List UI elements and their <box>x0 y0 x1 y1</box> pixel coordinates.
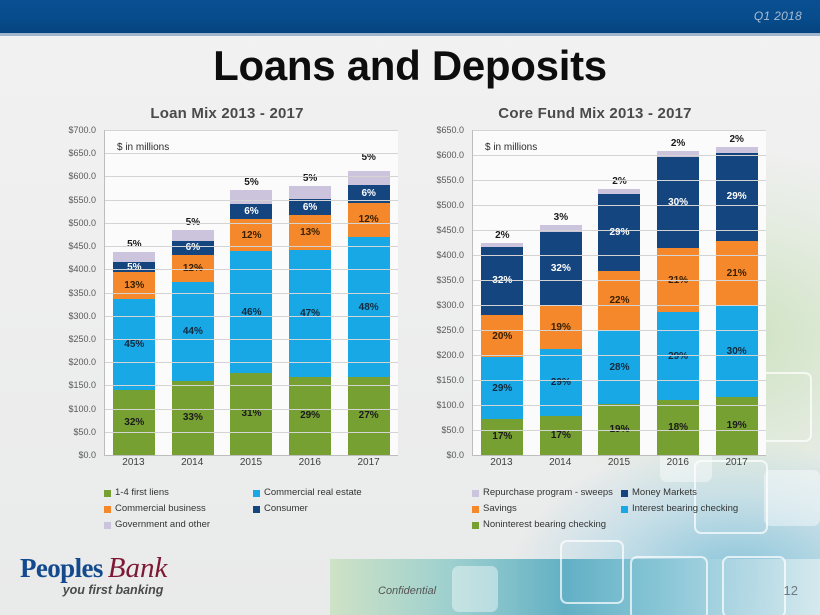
y-axis-tick-label: $150.0 <box>68 380 96 390</box>
y-axis-tick-label: $100.0 <box>68 404 96 414</box>
legend-swatch-icon <box>472 490 479 497</box>
bar-segment-label: 5% <box>127 262 141 272</box>
y-axis-tick-label: $450.0 <box>436 225 464 235</box>
legend-label: Interest bearing checking <box>632 503 738 515</box>
legend-item[interactable]: Noninterest bearing checking <box>472 519 770 531</box>
bar-segment-label: 44% <box>183 326 203 337</box>
bar-segment-label: 47% <box>300 308 320 319</box>
core-fund-mix-plot-wrap: $650.0$600.0$550.0$500.0$450.0$400.0$350… <box>420 130 770 475</box>
y-axis-tick-label: $650.0 <box>68 148 96 158</box>
bar-segment[interactable]: 28% <box>598 330 640 405</box>
bar-column[interactable]: 17%29%20%32%2% <box>473 130 532 455</box>
bar-segment[interactable]: 6% <box>172 241 214 255</box>
y-axis-tick-label: $550.0 <box>68 195 96 205</box>
page-number: 12 <box>784 583 798 598</box>
gridline <box>473 305 766 306</box>
legend-label: Consumer <box>264 503 308 515</box>
loan-mix-plot-area: $ in millions 32%45%13%5%5%33%44%12%6%5%… <box>104 130 398 456</box>
gridline <box>105 246 398 247</box>
decorative-square <box>722 556 786 615</box>
gridline <box>473 280 766 281</box>
bar-top-label: 2% <box>671 138 685 149</box>
gridline <box>473 230 766 231</box>
legend-swatch-icon <box>472 506 479 513</box>
bar-segment-label: 45% <box>124 339 144 350</box>
x-axis-tick-label: 2013 <box>472 457 531 473</box>
y-axis-tick-label: $600.0 <box>436 150 464 160</box>
legend-item[interactable]: 1-4 first liens <box>104 487 253 499</box>
stacked-bar[interactable]: 27%48%12%6%5% <box>348 165 390 455</box>
bar-column[interactable]: 19%30%21%29%2% <box>707 130 766 455</box>
loan-mix-x-axis: 20132014201520162017 <box>104 457 398 473</box>
y-axis-tick-label: $200.0 <box>68 357 96 367</box>
gridline <box>105 130 398 131</box>
legend-label: Repurchase program - sweeps <box>483 487 613 499</box>
x-axis-tick-label: 2015 <box>590 457 649 473</box>
stacked-bar[interactable]: 32%45%13%5%5% <box>113 252 155 455</box>
bar-column[interactable]: 18%29%21%30%2% <box>649 130 708 455</box>
bar-segment[interactable]: 21% <box>716 241 758 305</box>
bar-segment[interactable]: 6% <box>289 199 331 215</box>
bar-segment-label: 32% <box>551 263 571 274</box>
bar-top-label: 2% <box>729 134 743 145</box>
page-title: Loans and Deposits <box>0 42 820 90</box>
x-axis-tick-label: 2013 <box>104 457 163 473</box>
legend-item[interactable]: Repurchase program - sweeps <box>472 487 621 499</box>
legend-swatch-icon <box>621 490 628 497</box>
y-axis-tick-label: $300.0 <box>68 311 96 321</box>
bar-segment[interactable]: 18% <box>657 400 699 455</box>
bar-segment-label: 6% <box>361 188 375 199</box>
gridline <box>473 355 766 356</box>
bar-segment-label: 12% <box>241 230 261 241</box>
bar-segment[interactable]: 19% <box>540 306 582 350</box>
bar-segment[interactable] <box>348 171 390 186</box>
y-axis-tick-label: $250.0 <box>436 325 464 335</box>
gridline <box>105 223 398 224</box>
y-axis-tick-label: $500.0 <box>436 200 464 210</box>
stacked-bar[interactable]: 17%29%20%32%2% <box>481 243 523 456</box>
bar-top-label: 5% <box>244 177 258 188</box>
bar-column[interactable]: 17%29%19%32%3% <box>532 130 591 455</box>
bar-segment[interactable]: 29% <box>289 377 331 455</box>
legend-item[interactable]: Money Markets <box>621 487 770 499</box>
bar-segment-label: 48% <box>359 302 379 313</box>
top-banner-rule <box>0 33 820 36</box>
bar-top-label: 5% <box>303 173 317 184</box>
gridline <box>473 380 766 381</box>
bar-segment[interactable]: 12% <box>172 255 214 282</box>
bar-segment-label: 31% <box>241 408 261 419</box>
bar-column[interactable]: 19%28%22%29%2% <box>590 130 649 455</box>
bar-segment-label: 29% <box>300 410 320 421</box>
bar-top-label: 2% <box>612 176 626 187</box>
stacked-bar[interactable]: 19%28%22%29%2% <box>598 189 640 456</box>
core-fund-mix-plot-area: $ in millions 17%29%20%32%2%17%29%19%32%… <box>472 130 766 456</box>
stacked-bar[interactable]: 31%46%12%6%5% <box>230 190 272 455</box>
gridline <box>473 430 766 431</box>
gridline <box>105 432 398 433</box>
bar-segment-label: 27% <box>359 410 379 421</box>
y-axis-tick-label: $0.0 <box>446 450 464 460</box>
gridline <box>105 339 398 340</box>
x-axis-tick-label: 2015 <box>222 457 281 473</box>
bar-segment[interactable]: 44% <box>172 282 214 381</box>
bar-segment[interactable]: 30% <box>657 157 699 248</box>
bar-segment[interactable]: 30% <box>716 305 758 397</box>
y-axis-tick-label: $500.0 <box>68 218 96 228</box>
bar-segment-label: 29% <box>492 383 512 394</box>
legend-item[interactable]: Consumer <box>253 503 402 515</box>
bar-segment[interactable] <box>113 252 155 262</box>
logo-tagline: you first banking <box>20 583 167 597</box>
core-fund-mix-y-axis: $650.0$600.0$550.0$500.0$450.0$400.0$350… <box>420 130 468 455</box>
bar-segment[interactable]: 17% <box>481 419 523 455</box>
legend-label: Savings <box>483 503 517 515</box>
gridline <box>473 130 766 131</box>
bar-segment-label: 6% <box>303 202 317 213</box>
legend-swatch-icon <box>104 522 111 529</box>
bar-segment-label: 20% <box>492 331 512 342</box>
y-axis-tick-label: $250.0 <box>68 334 96 344</box>
legend-item[interactable]: Commercial business <box>104 503 253 515</box>
stacked-bar[interactable]: 19%30%21%29%2% <box>716 147 758 456</box>
bar-segment-label: 13% <box>124 280 144 291</box>
stacked-bar[interactable]: 29%47%13%6%5% <box>289 186 331 455</box>
bar-segment[interactable]: 29% <box>657 312 699 400</box>
bar-segment[interactable]: 33% <box>172 381 214 455</box>
logo-primary-text: Peoples <box>20 553 103 584</box>
gridline <box>105 200 398 201</box>
gridline <box>105 153 398 154</box>
gridline <box>473 205 766 206</box>
gridline <box>105 362 398 363</box>
bar-segment[interactable] <box>172 230 214 241</box>
y-axis-tick-label: $0.0 <box>78 450 96 460</box>
bar-segment-label: 29% <box>668 351 688 362</box>
y-axis-tick-label: $550.0 <box>436 175 464 185</box>
y-axis-tick-label: $100.0 <box>436 400 464 410</box>
x-axis-tick-label: 2014 <box>163 457 222 473</box>
y-axis-tick-label: $450.0 <box>68 241 96 251</box>
bar-segment[interactable]: 20% <box>481 315 523 358</box>
legend-label: Commercial real estate <box>264 487 362 499</box>
gridline <box>105 316 398 317</box>
peoples-bank-logo: Peoples Bank you first banking <box>20 552 167 597</box>
loan-mix-legend: 1-4 first liensCommercial real estateCom… <box>104 487 402 535</box>
legend-item[interactable]: Commercial real estate <box>253 487 402 499</box>
bar-segment[interactable] <box>230 190 272 203</box>
bar-segment-label: 30% <box>668 197 688 208</box>
core-fund-mix-chart-title: Core Fund Mix 2013 - 2017 <box>420 105 770 122</box>
top-banner <box>0 0 820 33</box>
stacked-bar[interactable]: 18%29%21%30%2% <box>657 151 699 455</box>
bar-segment[interactable]: 12% <box>348 203 390 238</box>
legend-label: Government and other <box>115 519 210 531</box>
gridline <box>105 176 398 177</box>
x-axis-tick-label: 2017 <box>339 457 398 473</box>
bar-segment[interactable]: 32% <box>113 390 155 455</box>
legend-label: Commercial business <box>115 503 206 515</box>
gridline <box>105 269 398 270</box>
y-axis-tick-label: $400.0 <box>68 264 96 274</box>
legend-item[interactable]: Interest bearing checking <box>621 503 770 515</box>
y-axis-tick-label: $350.0 <box>68 288 96 298</box>
x-axis-tick-label: 2016 <box>648 457 707 473</box>
bar-segment-label: 29% <box>727 191 747 202</box>
legend-swatch-icon <box>104 490 111 497</box>
legend-swatch-icon <box>104 506 111 513</box>
gridline <box>105 409 398 410</box>
stacked-bar[interactable]: 17%29%19%32%3% <box>540 225 582 455</box>
gridline <box>473 405 766 406</box>
gridline <box>105 293 398 294</box>
y-axis-tick-label: $150.0 <box>436 375 464 385</box>
x-axis-tick-label: 2016 <box>280 457 339 473</box>
confidential-label: Confidential <box>378 585 436 597</box>
bar-segment[interactable]: 6% <box>230 204 272 220</box>
bar-segment-label: 19% <box>551 322 571 333</box>
core-fund-mix-bars: 17%29%20%32%2%17%29%19%32%3%19%28%22%29%… <box>473 130 766 455</box>
legend-label: Noninterest bearing checking <box>483 519 606 531</box>
decorative-square <box>452 566 498 612</box>
bar-segment[interactable]: 29% <box>716 153 758 242</box>
bar-segment[interactable]: 29% <box>481 357 523 419</box>
bar-segment-label: 21% <box>727 268 747 279</box>
gridline <box>105 385 398 386</box>
logo-secondary-text: Bank <box>108 552 168 585</box>
bar-segment[interactable] <box>289 186 331 199</box>
stacked-bar[interactable]: 33%44%12%6%5% <box>172 230 214 455</box>
legend-item[interactable]: Government and other <box>104 519 402 531</box>
decorative-square <box>560 540 624 604</box>
core-fund-mix-legend: Repurchase program - sweepsMoney Markets… <box>472 487 770 535</box>
bar-segment[interactable]: 27% <box>348 377 390 455</box>
bar-segment[interactable]: 45% <box>113 299 155 390</box>
loan-mix-plot-wrap: $700.0$650.0$600.0$550.0$500.0$450.0$400… <box>52 130 402 475</box>
bar-segment-label: 6% <box>186 242 200 253</box>
x-axis-tick-label: 2017 <box>707 457 766 473</box>
y-axis-tick-label: $350.0 <box>436 275 464 285</box>
legend-swatch-icon <box>472 522 479 529</box>
bar-segment-label: 12% <box>183 263 203 274</box>
bar-segment-label: 32% <box>124 417 144 428</box>
decorative-square <box>764 470 820 526</box>
core-fund-mix-x-axis: 20132014201520162017 <box>472 457 766 473</box>
bar-top-label: 5% <box>127 239 141 250</box>
gridline <box>473 330 766 331</box>
bar-segment[interactable]: 13% <box>113 272 155 298</box>
y-axis-tick-label: $400.0 <box>436 250 464 260</box>
legend-swatch-icon <box>253 506 260 513</box>
y-axis-tick-label: $50.0 <box>441 425 464 435</box>
y-axis-tick-label: $50.0 <box>73 427 96 437</box>
gridline <box>473 155 766 156</box>
legend-swatch-icon <box>621 506 628 513</box>
loan-mix-y-axis: $700.0$650.0$600.0$550.0$500.0$450.0$400… <box>52 130 100 455</box>
y-axis-tick-label: $700.0 <box>68 125 96 135</box>
bar-top-label: 3% <box>554 212 568 223</box>
loan-mix-chart-title: Loan Mix 2013 - 2017 <box>52 105 402 122</box>
decorative-square <box>630 556 708 615</box>
y-axis-tick-label: $650.0 <box>436 125 464 135</box>
y-axis-tick-label: $300.0 <box>436 300 464 310</box>
bar-segment-label: 6% <box>244 206 258 217</box>
bar-segment[interactable]: 17% <box>540 416 582 455</box>
bar-segment-label: 13% <box>300 227 320 238</box>
gridline <box>473 180 766 181</box>
quarter-label: Q1 2018 <box>754 9 802 23</box>
bar-segment[interactable]: 5% <box>113 262 155 272</box>
bar-segment-label: 29% <box>609 227 629 238</box>
legend-label: Money Markets <box>632 487 697 499</box>
y-axis-tick-label: $600.0 <box>68 171 96 181</box>
bar-segment-label: 17% <box>551 430 571 441</box>
core-fund-mix-chart-panel: Core Fund Mix 2013 - 2017 $650.0$600.0$5… <box>420 105 770 475</box>
bar-segment-label: 29% <box>551 377 571 388</box>
x-axis-tick-label: 2014 <box>531 457 590 473</box>
bar-segment[interactable]: 32% <box>540 232 582 306</box>
bar-segment-label: 17% <box>492 431 512 442</box>
legend-label: 1-4 first liens <box>115 487 169 499</box>
y-axis-tick-label: $200.0 <box>436 350 464 360</box>
legend-swatch-icon <box>253 490 260 497</box>
bar-segment-label: 33% <box>183 412 203 423</box>
legend-item[interactable]: Savings <box>472 503 621 515</box>
bar-segment-label: 28% <box>609 362 629 373</box>
loan-mix-chart-panel: Loan Mix 2013 - 2017 $700.0$650.0$600.0$… <box>52 105 402 475</box>
bar-segment-label: 18% <box>668 422 688 433</box>
bar-top-label: 2% <box>495 230 509 241</box>
slide: Q1 2018 Loans and Deposits Loan Mix 2013… <box>0 0 820 615</box>
bar-segment[interactable]: 48% <box>348 237 390 376</box>
gridline <box>473 255 766 256</box>
